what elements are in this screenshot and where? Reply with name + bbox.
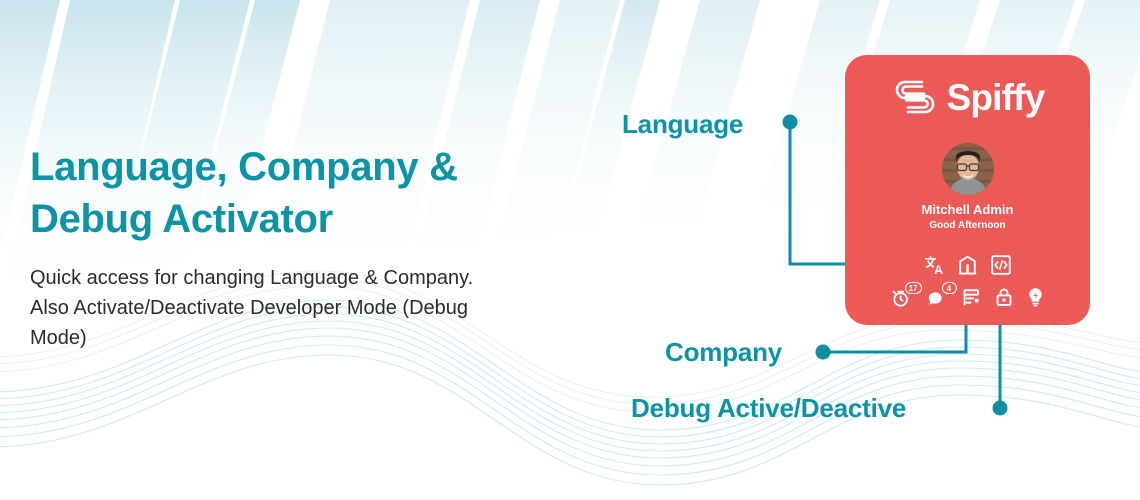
- translate-icon[interactable]: [924, 255, 944, 275]
- avatar-image: [942, 143, 994, 195]
- callout-label-debug: Debug Active/Deactive: [631, 393, 906, 424]
- card-quick-actions-secondary: 17 4: [845, 287, 1090, 307]
- messages-chat-icon[interactable]: 4: [927, 287, 948, 307]
- callout-label-company: Company: [665, 337, 782, 368]
- activity-filter-icon[interactable]: [962, 287, 981, 307]
- callout-label-language: Language: [622, 109, 743, 140]
- headline-block: Language, Company & Debug Activator: [30, 141, 550, 245]
- messages-badge: 4: [942, 282, 957, 294]
- user-name: Mitchell Admin: [845, 202, 1090, 217]
- page-title-line1: Language, Company &: [30, 141, 550, 193]
- spiffy-logo: Spiffy: [845, 74, 1090, 120]
- debug-code-icon[interactable]: [991, 255, 1011, 275]
- connector-dot-company: [816, 345, 831, 360]
- lightbulb-icon[interactable]: [1027, 287, 1044, 307]
- spiffy-logo-text: Spiffy: [947, 79, 1045, 116]
- card-quick-actions-primary: [845, 255, 1090, 275]
- promo-banner: Language, Company & Debug Activator Quic…: [0, 0, 1140, 500]
- avatar: [942, 143, 994, 195]
- user-greeting: Good Afternoon: [845, 220, 1090, 231]
- connector-dot-debug: [993, 401, 1008, 416]
- timesheet-badge: 17: [905, 282, 922, 294]
- spiffy-logo-mark: [891, 74, 939, 120]
- timesheet-clock-icon[interactable]: 17: [892, 287, 913, 307]
- page-subtitle: Quick access for changing Language & Com…: [30, 263, 490, 353]
- page-title-line2: Debug Activator: [30, 193, 550, 245]
- connector-dot-language: [783, 115, 798, 130]
- spiffy-user-card: Spiffy: [845, 55, 1090, 325]
- company-building-icon[interactable]: [958, 255, 977, 275]
- lock-icon[interactable]: [995, 287, 1013, 307]
